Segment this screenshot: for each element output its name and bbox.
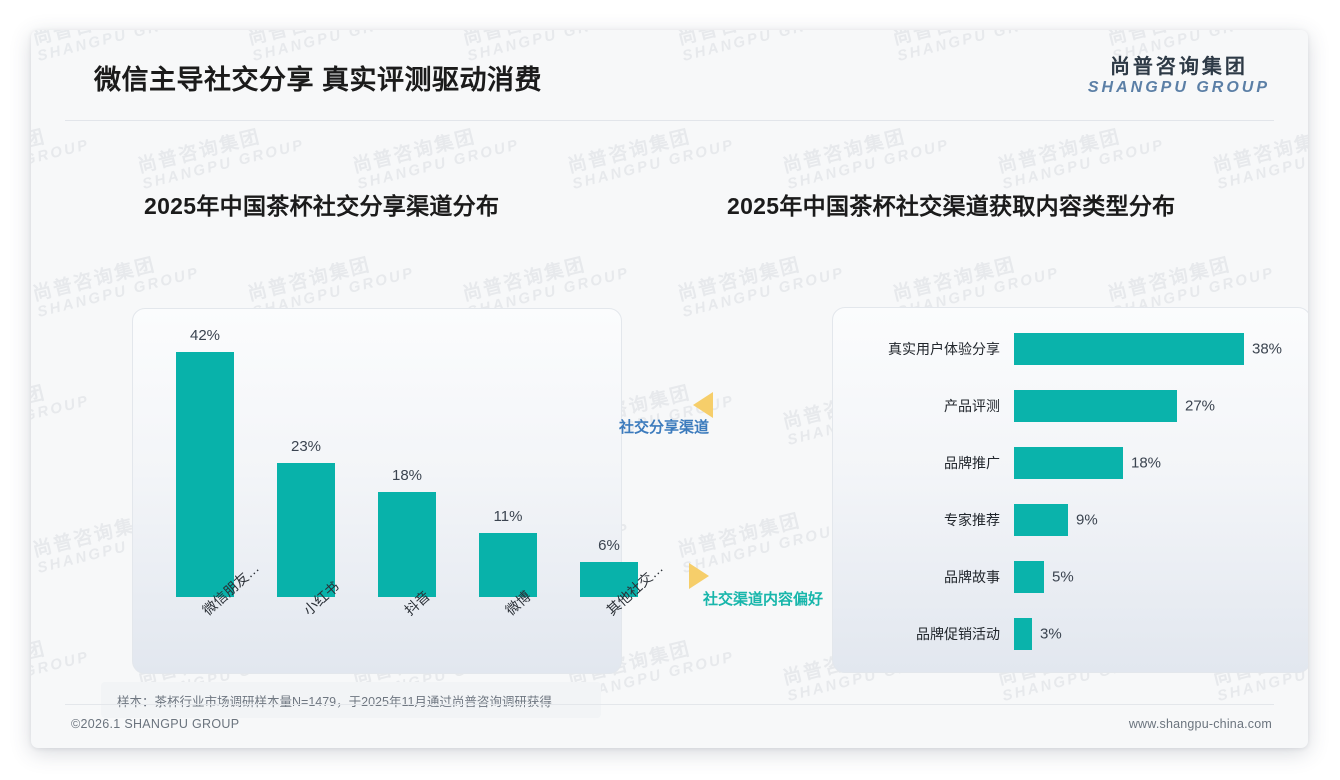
- brand-logo: 尚普咨询集团 SHANGPU GROUP: [1088, 56, 1270, 97]
- slide-card: 尚普咨询集团SHANGPU GROUP尚普咨询集团SHANGPU GROUP尚普…: [31, 30, 1308, 748]
- watermark-text: 尚普咨询集团SHANGPU GROUP: [996, 118, 1166, 193]
- watermark-text: 尚普咨询集团SHANGPU GROUP: [1211, 118, 1308, 193]
- horizontal-bar-category-label: 品牌故事: [944, 567, 1000, 587]
- horizontal-bar-value-label: 27%: [1185, 398, 1215, 415]
- horizontal-bar-category-label: 产品评测: [944, 396, 1000, 416]
- vertical-bar[interactable]: [176, 352, 234, 597]
- horizontal-bar-value-label: 5%: [1052, 569, 1074, 586]
- watermark-text: 尚普咨询集团SHANGPU GROUP: [566, 118, 736, 193]
- vertical-bar-value-label: 11%: [494, 508, 523, 525]
- vertical-bar-value-label: 18%: [392, 467, 422, 484]
- vertical-bar[interactable]: [277, 463, 335, 597]
- arrow-left-icon: [693, 392, 713, 418]
- watermark-text: 尚普咨询集团SHANGPU GROUP: [676, 246, 846, 321]
- horizontal-bar-value-label: 9%: [1076, 512, 1098, 529]
- slide-footer: ©2026.1 SHANGPU GROUP www.shangpu-china.…: [31, 704, 1308, 748]
- slide-header: 微信主导社交分享 真实评测驱动消费 尚普咨询集团 SHANGPU GROUP: [31, 30, 1308, 121]
- horizontal-bar[interactable]: [1014, 504, 1068, 536]
- horizontal-bar-row: 真实用户体验分享38%: [832, 329, 1308, 369]
- watermark-text: 尚普咨询集团SHANGPU GROUP: [136, 118, 306, 193]
- arrow-right-icon: [689, 563, 709, 589]
- horizontal-bar-row: 产品评测27%: [832, 386, 1308, 426]
- watermark-text: 尚普咨询集团SHANGPU GROUP: [31, 630, 91, 705]
- vertical-bar[interactable]: [378, 492, 436, 597]
- vertical-bar-group: 18%抖音: [378, 492, 436, 597]
- right-chart-title: 2025年中国茶杯社交渠道获取内容类型分布: [727, 187, 1175, 221]
- copyright-text: ©2026.1 SHANGPU GROUP: [71, 717, 239, 731]
- left-chart-title: 2025年中国茶杯社交分享渠道分布: [144, 187, 499, 221]
- watermark-text: 尚普咨询集团SHANGPU GROUP: [351, 118, 521, 193]
- vertical-bar-group: 6%其他社交…: [580, 562, 638, 597]
- vertical-bar[interactable]: [479, 533, 537, 597]
- horizontal-bar-category-label: 品牌促销活动: [916, 624, 1000, 644]
- horizontal-bar[interactable]: [1014, 390, 1177, 422]
- vertical-bar-group: 11%微博: [479, 533, 537, 597]
- website-url[interactable]: www.shangpu-china.com: [1129, 717, 1272, 731]
- horizontal-bar-row: 专家推荐9%: [832, 500, 1308, 540]
- vertical-bar-value-label: 23%: [291, 438, 321, 455]
- annotation-right-label: 社交渠道内容偏好: [703, 588, 823, 609]
- horizontal-bar[interactable]: [1014, 618, 1032, 650]
- watermark-text: 尚普咨询集团SHANGPU GROUP: [781, 118, 951, 193]
- vertical-bar-value-label: 42%: [190, 327, 220, 344]
- annotation-left-label: 社交分享渠道: [619, 416, 709, 437]
- horizontal-bar-row: 品牌促销活动3%: [832, 614, 1308, 654]
- horizontal-bar-value-label: 18%: [1131, 455, 1161, 472]
- horizontal-bar-category-label: 专家推荐: [944, 510, 1000, 530]
- horizontal-bar-value-label: 3%: [1040, 626, 1062, 643]
- page-title: 微信主导社交分享 真实评测驱动消费: [94, 58, 542, 97]
- horizontal-bar-category-label: 真实用户体验分享: [888, 339, 1000, 359]
- watermark-text: 尚普咨询集团SHANGPU GROUP: [31, 118, 91, 193]
- vertical-bar-value-label: 6%: [598, 537, 620, 554]
- vertical-bar-group: 23%小红书: [277, 463, 335, 597]
- vertical-bar-group: 42%微信朋友…: [176, 352, 234, 597]
- horizontal-bar-category-label: 品牌推广: [944, 453, 1000, 473]
- logo-english-text: SHANGPU GROUP: [1088, 79, 1270, 97]
- horizontal-bar-row: 品牌故事5%: [832, 557, 1308, 597]
- horizontal-bar[interactable]: [1014, 447, 1123, 479]
- watermark-text: 尚普咨询集团SHANGPU GROUP: [31, 374, 91, 449]
- horizontal-bar-row: 品牌推广18%: [832, 443, 1308, 483]
- logo-chinese-text: 尚普咨询集团: [1088, 56, 1270, 79]
- horizontal-bar-chart: 真实用户体验分享38%产品评测27%品牌推广18%专家推荐9%品牌故事5%品牌促…: [832, 307, 1308, 671]
- horizontal-bar-value-label: 38%: [1252, 341, 1282, 358]
- vertical-bar-chart: 42%微信朋友…23%小红书18%抖音11%微博6%其他社交…: [132, 292, 620, 672]
- horizontal-bar[interactable]: [1014, 333, 1244, 365]
- horizontal-bar[interactable]: [1014, 561, 1044, 593]
